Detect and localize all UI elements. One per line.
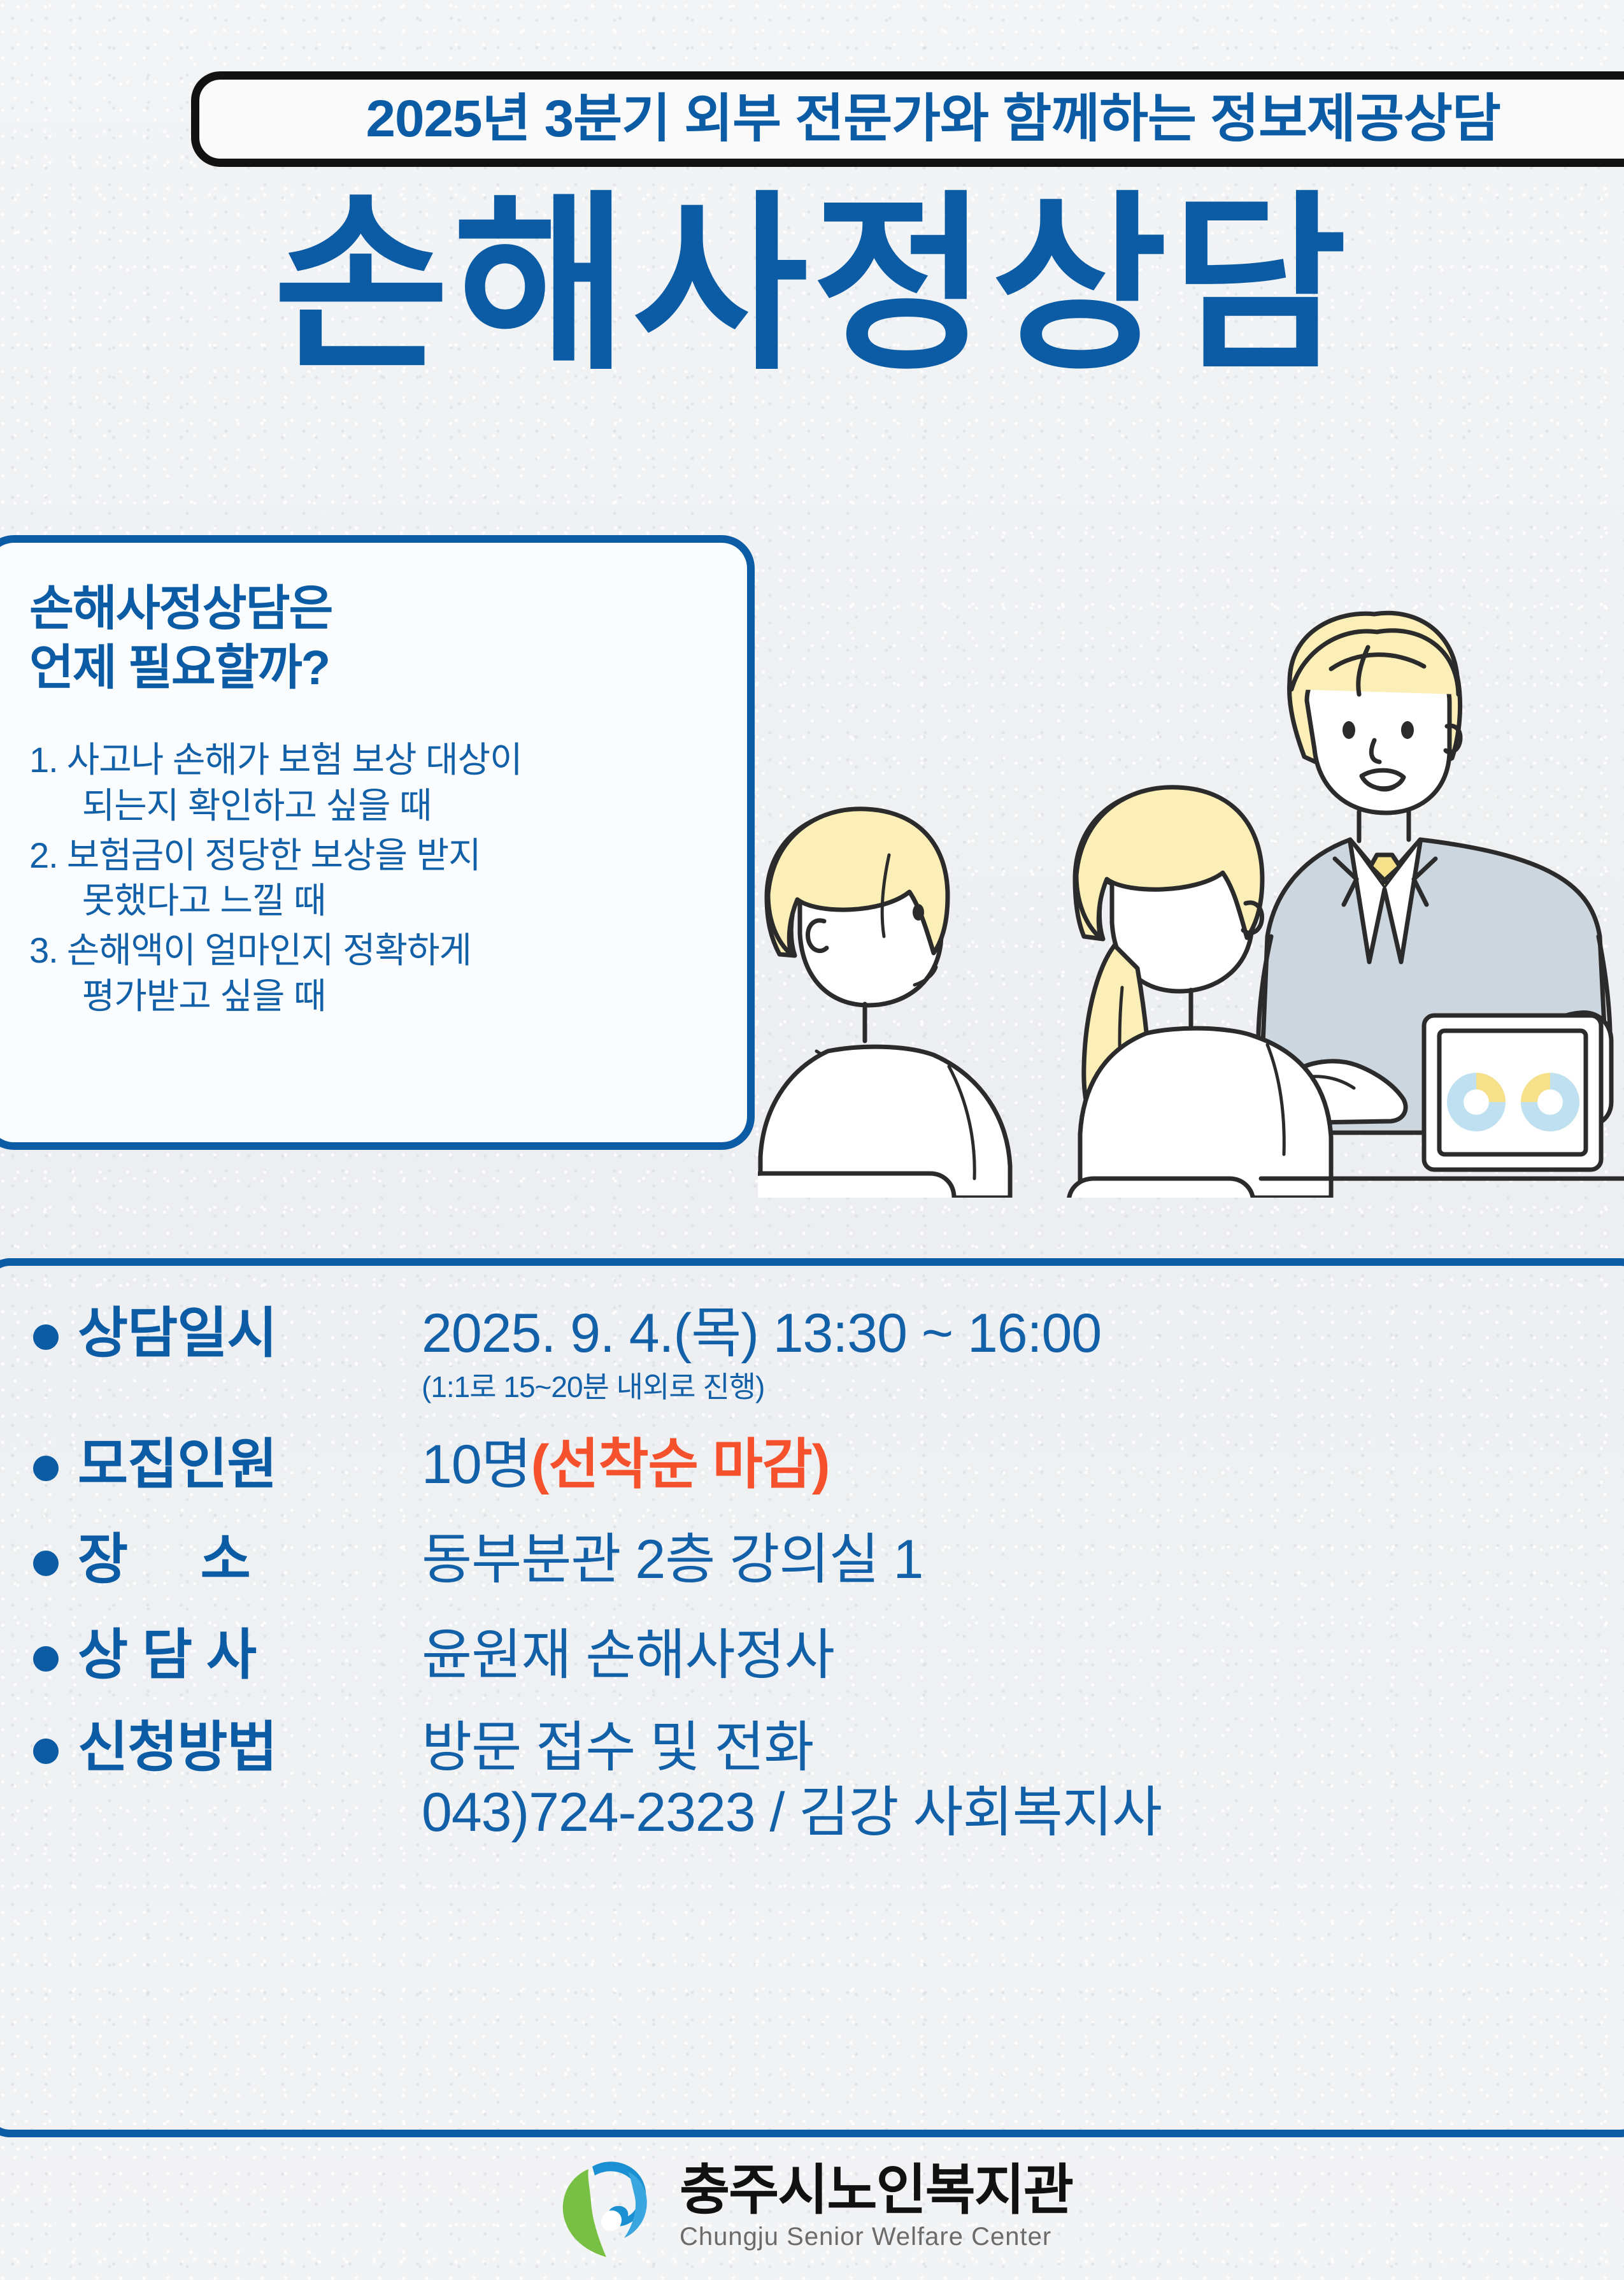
detail-label-place: 장 소 [78, 1528, 422, 1592]
info-box-heading-line2: 언제 필요할까? [29, 641, 329, 695]
detail-value-apply: 방문 접수 및 전화 043)724-2323 / 김강 사회복지사 [422, 1716, 1624, 1845]
list-item: 1. 사고나 손해가 보험 보상 대상이 되는지 확인하고 싶을 때 [29, 737, 714, 828]
consultation-illustration [758, 605, 1624, 1198]
detail-value-place: 동부분관 2층 강의실 1 [422, 1528, 1624, 1592]
list-item-line2: 못했다고 느낄 때 [67, 878, 481, 924]
detail-row-adviser: 상 담 사 윤원재 손해사정사 [33, 1623, 1624, 1688]
list-item-text: 손해액이 얼마인지 정확하게 평가받고 싶을 때 [67, 928, 471, 1019]
info-box-list: 1. 사고나 손해가 보험 보상 대상이 되는지 확인하고 싶을 때 2. 보험… [29, 737, 714, 1019]
details-box: 상담일시 2025. 9. 4.(목) 13:30 ~ 16:00 (1:1로 … [0, 1258, 1624, 2137]
detail-label-date: 상담일시 [78, 1301, 422, 1366]
detail-row-place: 장 소 동부분관 2층 강의실 1 [33, 1528, 1624, 1592]
detail-value-capacity-accent: (선착순 마감) [531, 1434, 830, 1495]
list-item-line1: 보험금이 정당한 보상을 받지 [67, 835, 481, 875]
list-item-number: 2. [29, 833, 58, 924]
footer-logo: 충주시노인복지관 Chungju Senior Welfare Center [0, 2150, 1624, 2262]
detail-label-apply: 신청방법 [78, 1716, 422, 1780]
detail-value-date-note: (1:1로 15~20분 내외로 진행) [422, 1370, 1624, 1404]
info-box: 손해사정상담은 언제 필요할까? 1. 사고나 손해가 보험 보상 대상이 되는… [0, 535, 755, 1150]
bullet-icon [33, 1324, 59, 1350]
list-item-text: 사고나 손해가 보험 보상 대상이 되는지 확인하고 싶을 때 [67, 737, 522, 828]
list-item-line2: 평가받고 싶을 때 [67, 973, 471, 1019]
detail-row-capacity: 모집인원 10명(선착순 마감) [33, 1433, 1624, 1497]
footer-logo-text: 충주시노인복지관 Chungju Senior Welfare Center [680, 2163, 1072, 2249]
header-banner-text: 2025년 3분기 외부 전문가와 함께하는 정보제공상담 [366, 93, 1500, 145]
list-item-number: 1. [29, 737, 58, 828]
detail-label-capacity: 모집인원 [78, 1433, 422, 1497]
detail-value-apply-line2: 043)724-2323 / 김강 사회복지사 [422, 1781, 1624, 1845]
footer-name-ko: 충주시노인복지관 [680, 2163, 1072, 2218]
bullet-icon [33, 1456, 59, 1481]
info-box-heading-line1: 손해사정상담은 [29, 582, 332, 636]
detail-value-date-text: 2025. 9. 4.(목) 13:30 ~ 16:00 [422, 1303, 1101, 1364]
list-item-text: 보험금이 정당한 보상을 받지 못했다고 느낄 때 [67, 833, 481, 924]
chungju-welfare-logo-icon [552, 2150, 663, 2262]
detail-label-adviser: 상 담 사 [78, 1623, 422, 1688]
bullet-icon [33, 1646, 59, 1672]
detail-value-capacity: 10명(선착순 마감) [422, 1433, 1624, 1497]
list-item-line2: 되는지 확인하고 싶을 때 [67, 783, 522, 829]
detail-value-apply-line1: 방문 접수 및 전화 [422, 1716, 1624, 1780]
list-item-number: 3. [29, 928, 58, 1019]
info-box-heading: 손해사정상담은 언제 필요할까? [29, 580, 714, 698]
list-item: 2. 보험금이 정당한 보상을 받지 못했다고 느낄 때 [29, 833, 714, 924]
detail-value-date: 2025. 9. 4.(목) 13:30 ~ 16:00 (1:1로 15~20… [422, 1301, 1624, 1405]
detail-value-capacity-number: 10명 [422, 1434, 531, 1495]
list-item-line1: 사고나 손해가 보험 보상 대상이 [67, 740, 522, 780]
bullet-icon [33, 1739, 59, 1764]
detail-value-adviser: 윤원재 손해사정사 [422, 1623, 1624, 1688]
header-banner: 2025년 3분기 외부 전문가와 함께하는 정보제공상담 [191, 71, 1624, 167]
bullet-icon [33, 1551, 59, 1576]
illustration-svg [758, 605, 1624, 1198]
list-item: 3. 손해액이 얼마인지 정확하게 평가받고 싶을 때 [29, 928, 714, 1019]
page-title: 손해사정상담 [0, 185, 1624, 385]
list-item-line1: 손해액이 얼마인지 정확하게 [67, 930, 471, 970]
detail-row-apply: 신청방법 방문 접수 및 전화 043)724-2323 / 김강 사회복지사 [33, 1716, 1624, 1845]
footer-name-en: Chungju Senior Welfare Center [680, 2224, 1072, 2249]
detail-row-date: 상담일시 2025. 9. 4.(목) 13:30 ~ 16:00 (1:1로 … [33, 1301, 1624, 1405]
